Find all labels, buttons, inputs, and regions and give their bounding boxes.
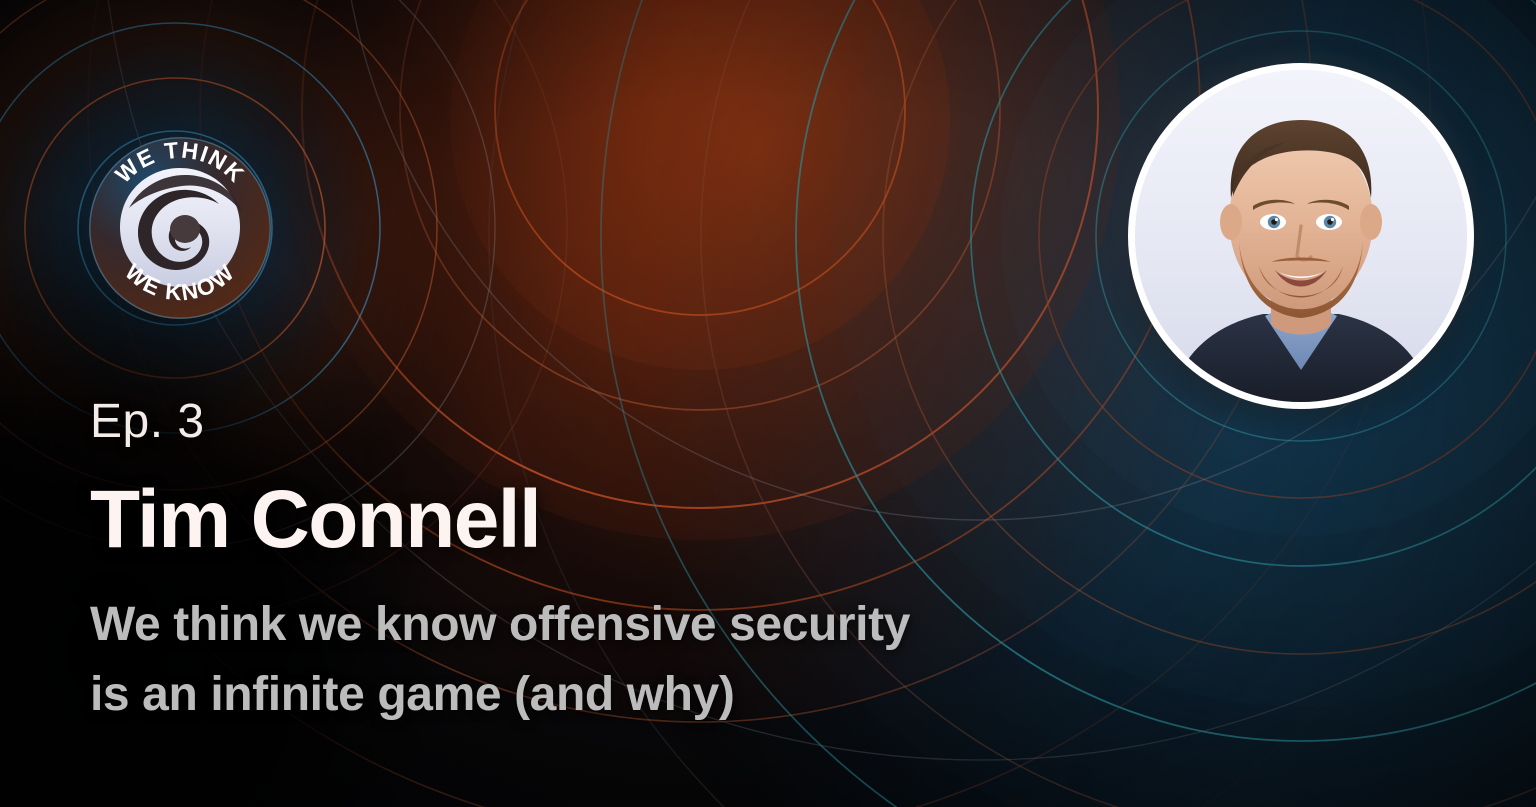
episode-title: We think we know offensive security is a… (90, 590, 1140, 729)
episode-number-label: Ep. 3 (90, 398, 1140, 446)
episode-title-line-2: is an infinite game (and why) (90, 660, 1140, 730)
brand-logo-svg: WE THINK WE KNOW (88, 136, 272, 320)
podcast-episode-cover: WE THINK WE KNOW (0, 0, 1536, 807)
brand-logo-badge: WE THINK WE KNOW (88, 136, 272, 320)
episode-title-line-1: We think we know offensive security (90, 590, 1140, 660)
guest-portrait-image (1135, 70, 1467, 402)
guest-name-heading: Tim Connell (90, 480, 1140, 560)
episode-text-block: Ep. 3 Tim Connell We think we know offen… (90, 398, 1140, 730)
guest-portrait (1128, 63, 1474, 409)
